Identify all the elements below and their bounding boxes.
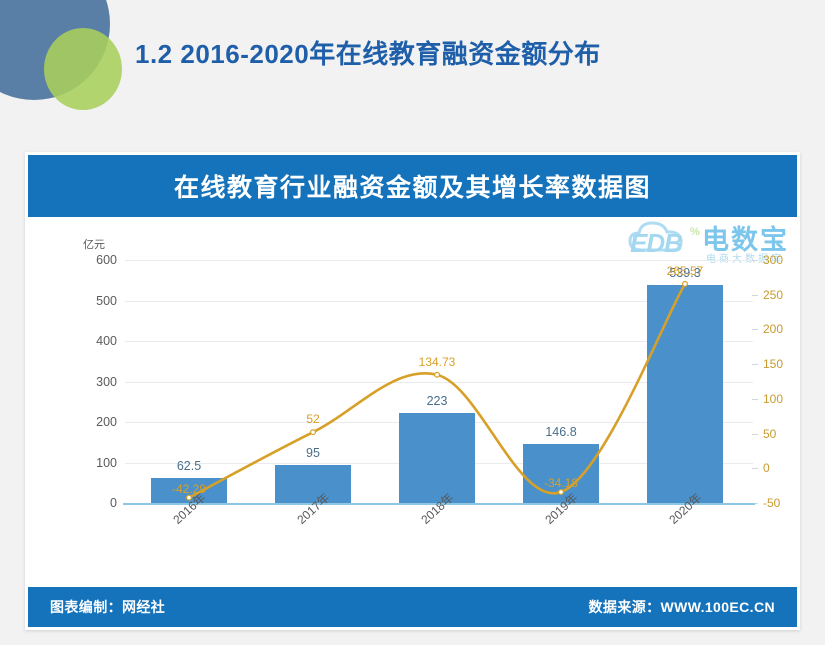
- footer-source: 数据来源：WWW.100EC.CN: [589, 597, 775, 617]
- y-axis-left-tick-label: 0: [75, 496, 117, 510]
- chart-card: 在线教育行业融资金额及其增长率数据图 EDB % 电数宝 电商大数据库 亿元 0…: [25, 152, 800, 630]
- y-axis-right-tick-label: 300: [763, 253, 803, 267]
- line-data-point-2018年: [435, 372, 440, 377]
- bar-2019年: [523, 444, 600, 503]
- left-axis-unit-label: 亿元: [83, 236, 105, 252]
- line-value-label: 265.57: [667, 264, 704, 278]
- y-axis-right-tickmark: [752, 260, 758, 261]
- chart-footer-bar: 图表编制：网经社 数据来源：WWW.100EC.CN: [28, 587, 797, 627]
- bar-value-label: 146.8: [545, 425, 576, 439]
- watermark-logo-text: EDB: [630, 228, 682, 259]
- bar-value-label: 62.5: [177, 459, 201, 473]
- y-axis-right-tick-label: 50: [763, 427, 803, 441]
- green-circle-shape: [44, 28, 122, 110]
- blue-blob-shape: [0, 0, 110, 100]
- watermark-percent-mark: %: [690, 226, 700, 238]
- chart-title-bar: 在线教育行业融资金额及其增长率数据图: [28, 155, 797, 217]
- y-axis-right-tick-label: 250: [763, 288, 803, 302]
- bar-value-label: 223: [427, 394, 448, 408]
- y-axis-right-tick-label: 100: [763, 392, 803, 406]
- y-axis-left-tick-label: 100: [75, 456, 117, 470]
- y-axis-left-tick-label: 300: [75, 375, 117, 389]
- y-axis-right-tick-label: -50: [763, 496, 803, 510]
- y-axis-right-tickmark: [752, 434, 758, 435]
- watermark-brand: 电数宝: [702, 218, 789, 257]
- bar-2020年: [647, 285, 724, 503]
- y-axis-left-tick-label: 400: [75, 334, 117, 348]
- footer-author: 图表编制：网经社: [50, 597, 165, 617]
- y-axis-right-tickmark: [752, 364, 758, 365]
- y-axis-right-tick-label: 0: [763, 461, 803, 475]
- bar-2018年: [399, 413, 476, 503]
- y-axis-left-tick-label: 600: [75, 253, 117, 267]
- line-value-label: 52: [306, 412, 319, 426]
- y-axis-right-tickmark: [752, 399, 758, 400]
- line-data-point-2017年: [311, 430, 316, 435]
- y-axis-right-tick-label: 150: [763, 357, 803, 371]
- page-title: 1.2 2016-2020年在线教育融资金额分布: [135, 34, 601, 71]
- y-axis-right-tickmark: [752, 468, 758, 469]
- y-axis-right-tickmark: [752, 329, 758, 330]
- line-value-label: 134.73: [419, 355, 456, 369]
- y-axis-right-tick-label: 200: [763, 322, 803, 336]
- y-axis-left-tick-label: 500: [75, 294, 117, 308]
- cloud-icon: [624, 216, 704, 264]
- watermark-edb: EDB % 电数宝 电商大数据库: [624, 216, 792, 278]
- chart-title: 在线教育行业融资金额及其增长率数据图: [174, 168, 651, 204]
- y-axis-left-tick-label: 200: [75, 415, 117, 429]
- y-axis-right-tickmark: [752, 295, 758, 296]
- gridline: [125, 260, 753, 261]
- line-value-label: -42.29: [172, 482, 206, 496]
- bar-value-label: 95: [306, 446, 320, 460]
- chart-plot-area: EDB % 电数宝 电商大数据库 亿元 0100200300400500600-…: [25, 220, 800, 582]
- line-value-label: -34.18: [544, 476, 578, 490]
